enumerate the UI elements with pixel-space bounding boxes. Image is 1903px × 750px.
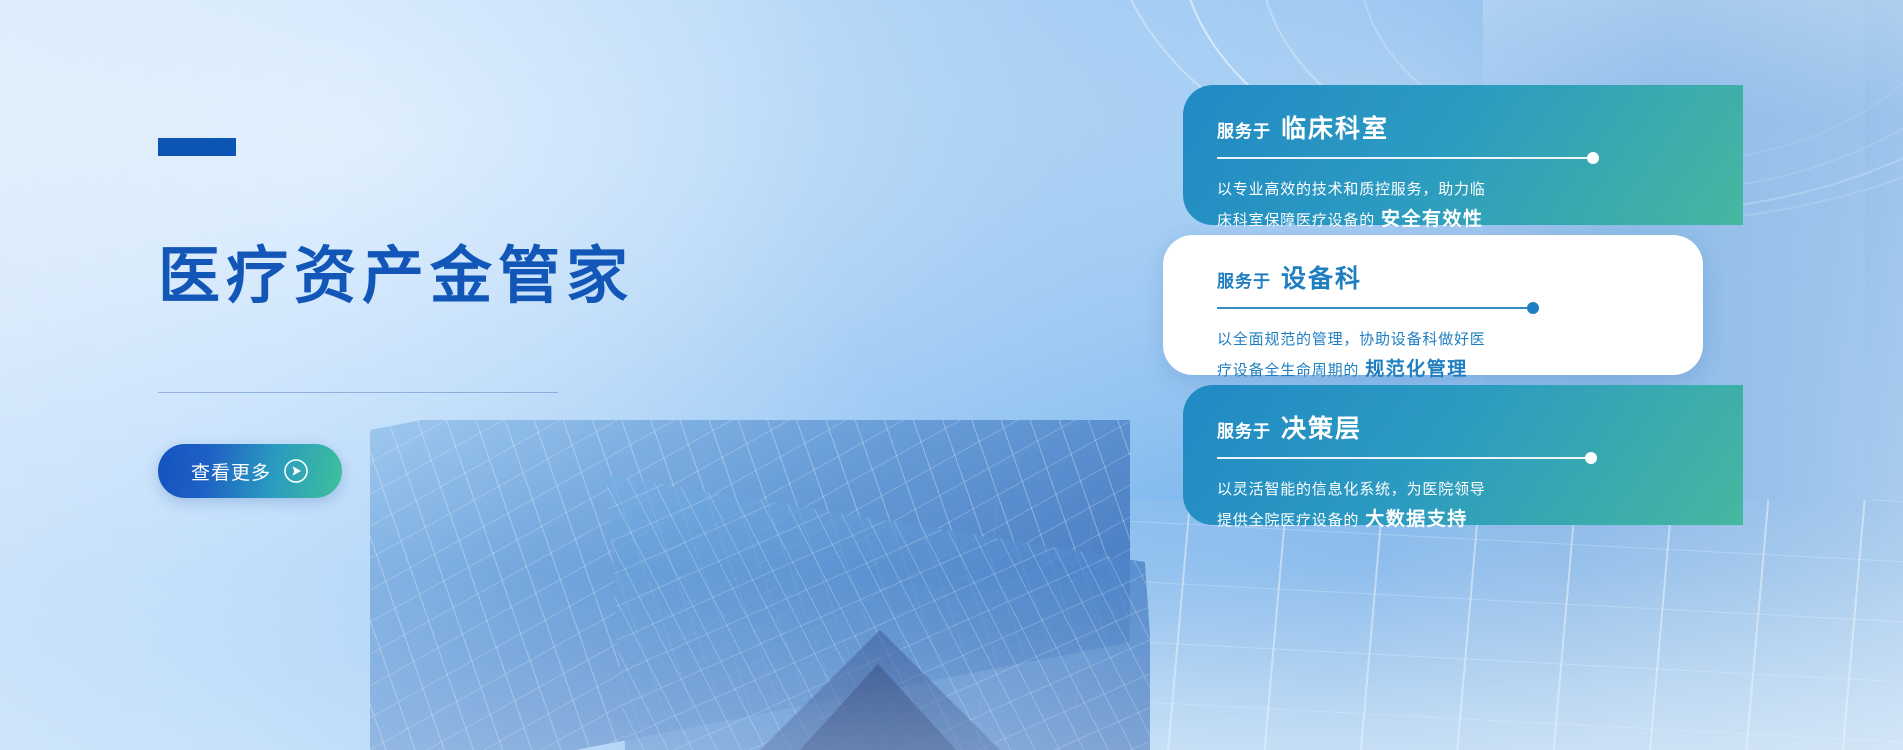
card-body: 以全面规范的管理，协助设备科做好医 疗设备全生命周期的规范化管理 <box>1217 325 1703 386</box>
hero-banner: 医疗资产金管家 查看更多 服务于 临床科室 以专业 <box>0 0 1903 750</box>
divider-line <box>1217 307 1527 309</box>
card-head-prefix: 服务于 <box>1217 417 1271 442</box>
card-divider <box>1217 301 1703 315</box>
card-head-prefix: 服务于 <box>1217 267 1271 292</box>
card-header: 服务于 决策层 <box>1217 409 1743 445</box>
card-head-main: 临床科室 <box>1281 109 1389 145</box>
card-body-emphasis: 规范化管理 <box>1365 359 1468 380</box>
accent-bar <box>158 138 236 156</box>
card-head-prefix: 服务于 <box>1217 117 1271 142</box>
divider-endpoint-dot <box>1585 452 1597 464</box>
card-body-line-1: 以全面规范的管理，协助设备科做好医 <box>1217 325 1703 355</box>
card-body-emphasis: 大数据支持 <box>1365 509 1468 530</box>
card-divider <box>1217 151 1743 165</box>
card-body-line-2-text: 疗设备全生命周期的 <box>1217 362 1359 379</box>
divider-line <box>1217 457 1585 459</box>
service-card-decision[interactable]: 服务于 决策层 以灵活智能的信息化系统，为医院领导 提供全院医疗设备的大数据支持 <box>1183 385 1743 525</box>
card-body-emphasis: 安全有效性 <box>1381 209 1484 230</box>
card-body-line-1: 以灵活智能的信息化系统，为医院领导 <box>1217 475 1743 505</box>
page-title: 医疗资产金管家 <box>158 243 634 311</box>
card-body-line-1: 以专业高效的技术和质控服务，助力临 <box>1217 175 1743 205</box>
card-header: 服务于 设备科 <box>1217 259 1703 295</box>
card-body: 以专业高效的技术和质控服务，助力临 床科室保障医疗设备的安全有效性 <box>1217 175 1743 236</box>
card-body: 以灵活智能的信息化系统，为医院领导 提供全院医疗设备的大数据支持 <box>1217 475 1743 536</box>
card-body-line-2: 疗设备全生命周期的规范化管理 <box>1217 355 1703 386</box>
card-head-main: 设备科 <box>1281 259 1362 295</box>
card-body-line-2: 提供全院医疗设备的大数据支持 <box>1217 505 1743 536</box>
card-head-main: 决策层 <box>1281 409 1362 445</box>
divider-endpoint-dot <box>1527 302 1539 314</box>
hero-left-column: 医疗资产金管家 查看更多 <box>158 0 798 750</box>
service-card-list: 服务于 临床科室 以专业高效的技术和质控服务，助力临 床科室保障医疗设备的安全有… <box>1183 0 1903 750</box>
card-header: 服务于 临床科室 <box>1217 109 1743 145</box>
horizontal-rule <box>158 392 558 393</box>
divider-endpoint-dot <box>1587 152 1599 164</box>
view-more-button[interactable]: 查看更多 <box>158 444 342 498</box>
card-divider <box>1217 451 1743 465</box>
service-card-clinical[interactable]: 服务于 临床科室 以专业高效的技术和质控服务，助力临 床科室保障医疗设备的安全有… <box>1183 85 1743 225</box>
card-body-line-2-text: 床科室保障医疗设备的 <box>1217 212 1375 229</box>
divider-line <box>1217 157 1587 159</box>
service-card-equipment[interactable]: 服务于 设备科 以全面规范的管理，协助设备科做好医 疗设备全生命周期的规范化管理 <box>1163 235 1703 375</box>
view-more-label: 查看更多 <box>191 458 271 485</box>
circle-arrow-right-icon <box>283 458 309 484</box>
card-body-line-2-text: 提供全院医疗设备的 <box>1217 512 1359 529</box>
card-body-line-2: 床科室保障医疗设备的安全有效性 <box>1217 205 1743 236</box>
